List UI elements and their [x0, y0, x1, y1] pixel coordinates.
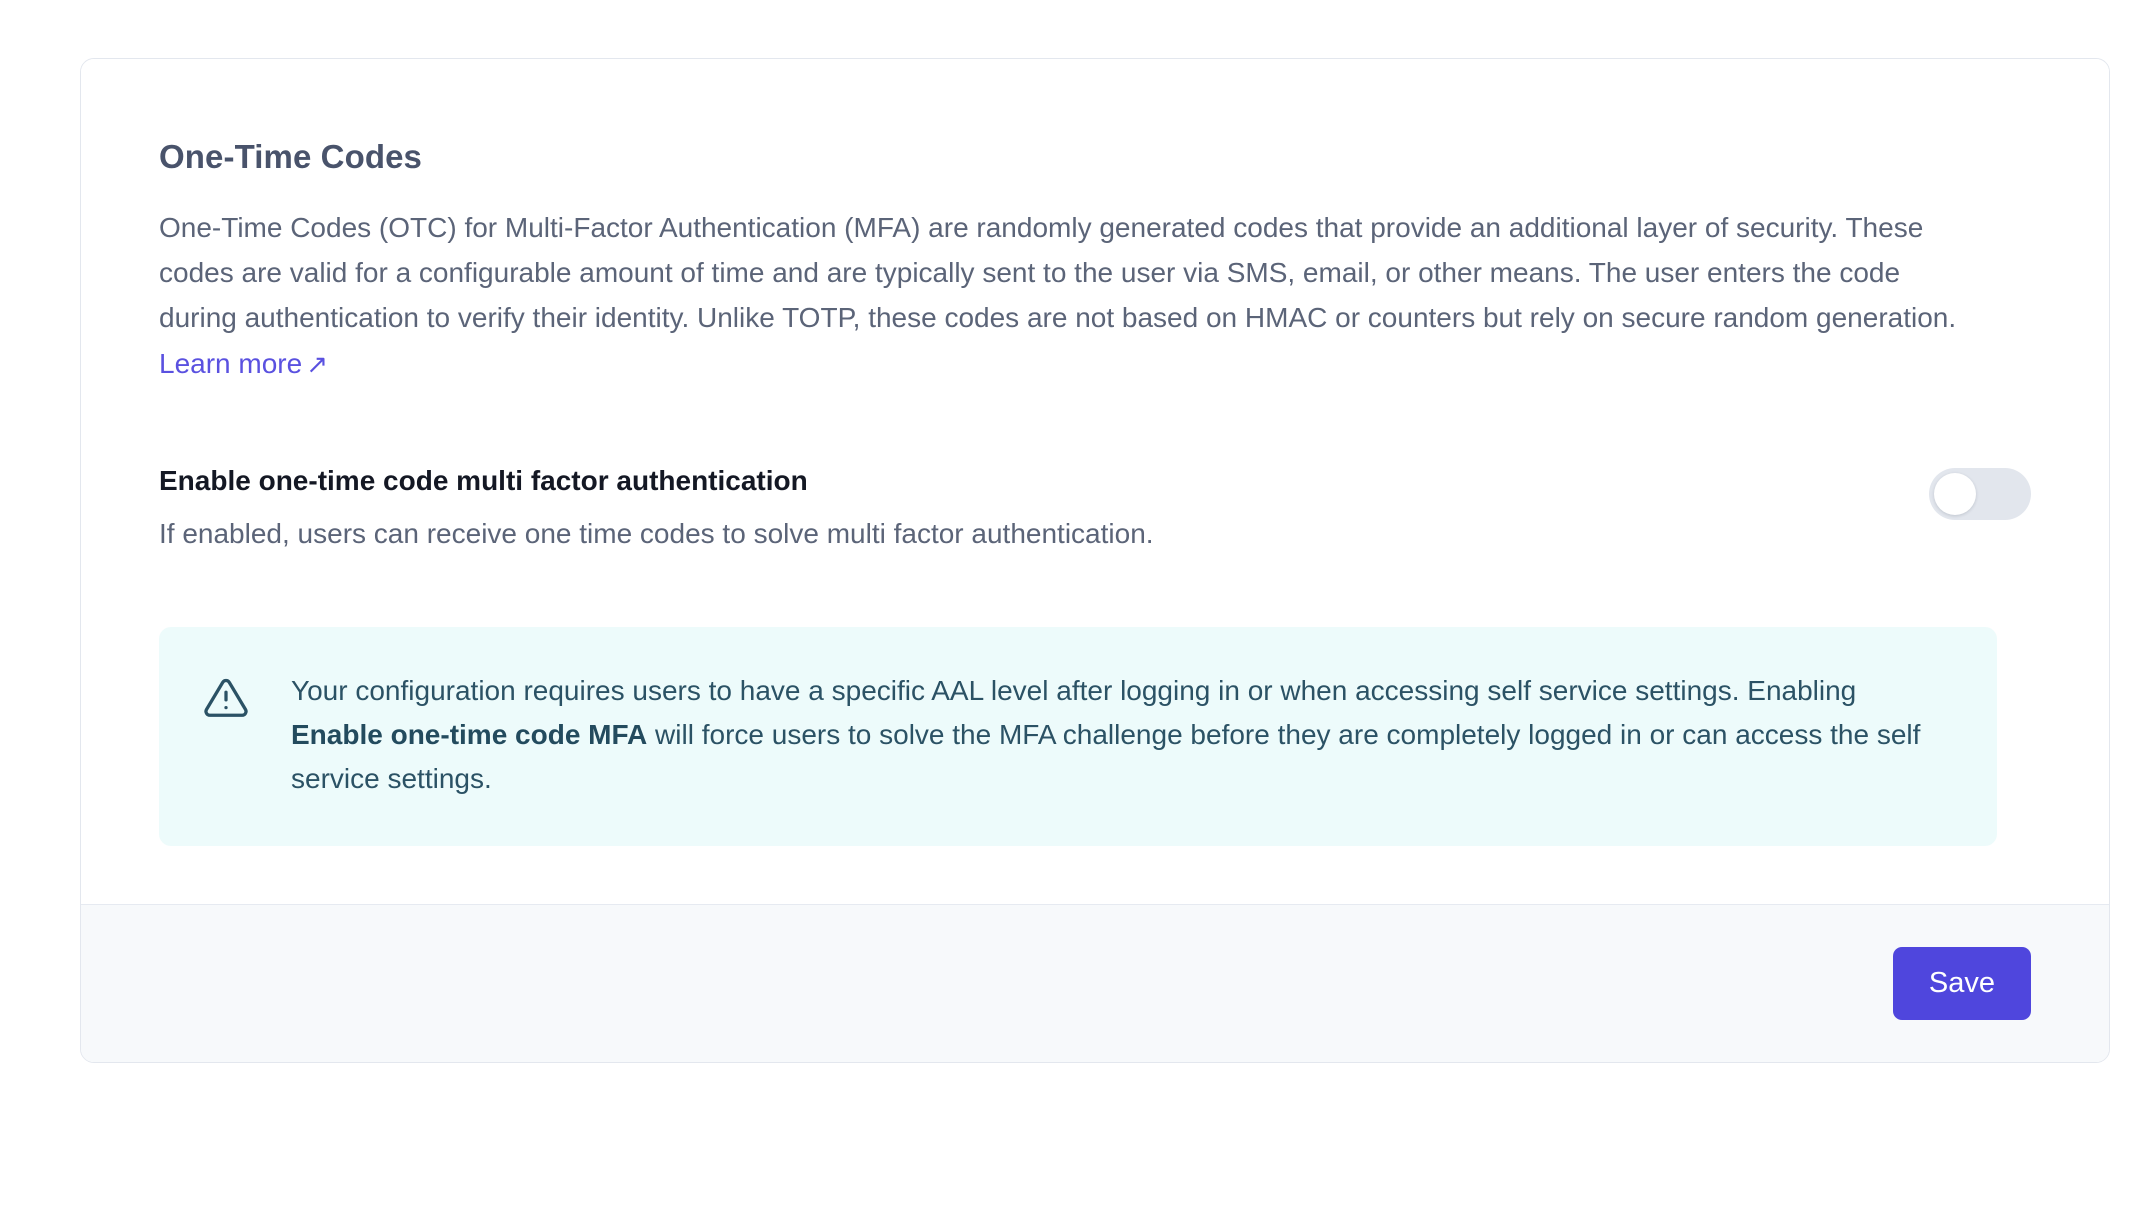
page-title: One-Time Codes	[159, 137, 2031, 177]
aal-warning-callout: Your configuration requires users to hav…	[159, 627, 1997, 846]
enable-otc-mfa-toggle[interactable]	[1929, 468, 2031, 520]
aal-warning-text-part1: Your configuration requires users to hav…	[291, 675, 1856, 706]
enable-otc-mfa-texts: Enable one-time code multi factor authen…	[159, 462, 1929, 553]
enable-otc-mfa-description: If enabled, users can receive one time c…	[159, 514, 1869, 553]
one-time-codes-card: One-Time Codes One-Time Codes (OTC) for …	[80, 58, 2110, 1063]
warning-triangle-icon	[203, 675, 249, 721]
learn-more-link[interactable]: Learn more↗	[159, 348, 328, 379]
aal-warning-text-bold: Enable one-time code MFA	[291, 719, 647, 750]
toggle-knob	[1934, 473, 1976, 515]
enable-otc-mfa-label: Enable one-time code multi factor authen…	[159, 462, 1869, 500]
section-description: One-Time Codes (OTC) for Multi-Factor Au…	[159, 205, 1959, 386]
card-body: One-Time Codes One-Time Codes (OTC) for …	[81, 59, 2109, 904]
learn-more-label: Learn more	[159, 348, 302, 379]
aal-warning-text: Your configuration requires users to hav…	[291, 669, 1951, 802]
save-button[interactable]: Save	[1893, 947, 2031, 1020]
card-footer: Save	[81, 904, 2109, 1062]
enable-otc-mfa-row: Enable one-time code multi factor authen…	[159, 462, 2031, 553]
external-link-arrow-icon: ↗	[306, 343, 328, 385]
section-description-text: One-Time Codes (OTC) for Multi-Factor Au…	[159, 212, 1956, 334]
